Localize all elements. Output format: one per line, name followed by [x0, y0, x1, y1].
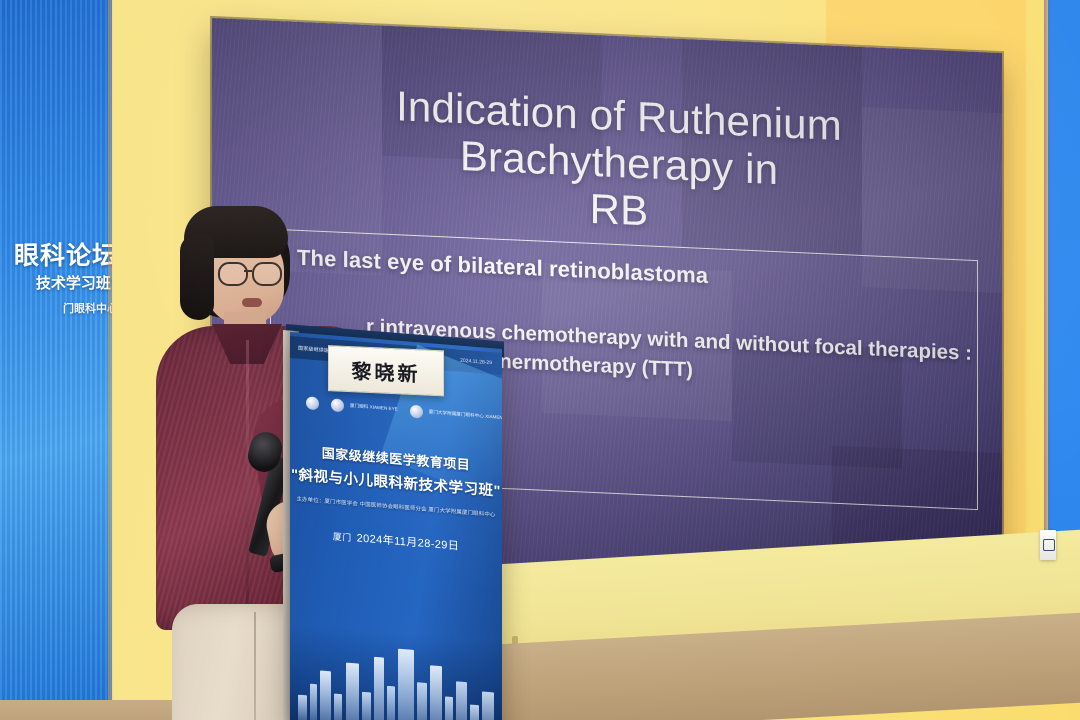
sign-glyph-icon	[1043, 539, 1055, 551]
speaker-name: 黎晓新	[352, 355, 421, 387]
left-banner-line-3: 门眼科中心	[63, 300, 112, 316]
speaker-mouth	[242, 298, 262, 307]
speaker-trouser-seam	[254, 612, 256, 720]
speaker-hair-side	[180, 234, 214, 320]
university-logo-icon	[410, 404, 423, 418]
hospital-logo-icon	[331, 398, 344, 412]
left-banner-line-2: 技术学习班"	[36, 272, 112, 293]
left-event-banner: 眼科论坛 技术学习班" 门眼科中心	[0, 0, 112, 720]
podium-city-mark: 厦门	[333, 531, 352, 543]
speaker-nameplate: 黎晓新	[328, 345, 444, 396]
podium-date-text: 2024年11月28-29日	[357, 532, 460, 552]
banner-edge-highlight	[108, 0, 114, 720]
podium-banner: 国家级继续医学教育项目 2024.11.28-29 厦门眼科 XIAMEN EY…	[290, 332, 502, 720]
presentation-photo: 眼科论坛 技术学习班" 门眼科中心 Indication of Rutheniu…	[0, 0, 1080, 720]
city-skyline-graphic	[290, 624, 502, 720]
podium-logo-1-text: 厦门眼科 XIAMEN EYE	[350, 403, 398, 413]
speaker-jacket-fold	[246, 340, 249, 630]
institution-seal-icon	[306, 396, 319, 410]
podium-date-row: 厦门2024年11月28-29日	[290, 524, 502, 557]
left-banner-line-1: 眼科论坛	[14, 236, 112, 272]
eyeglasses-icon	[218, 262, 284, 282]
wall-mounted-sign	[1040, 530, 1056, 560]
